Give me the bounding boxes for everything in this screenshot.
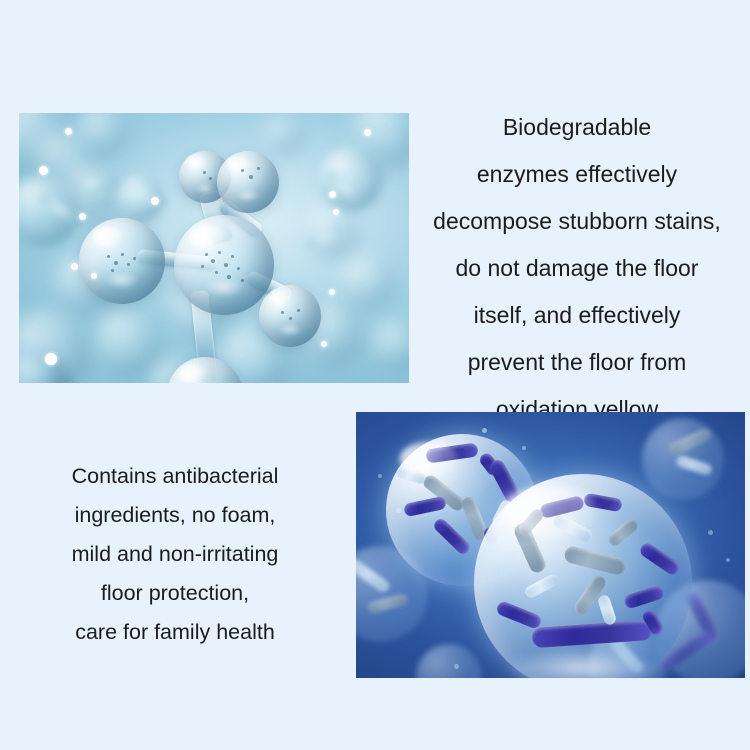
description-line: itself, and effectively [424,292,730,339]
highlight-dot [45,353,57,365]
molecule-atom [259,285,321,347]
description-line: prevent the floor from [424,339,730,386]
bacteria-bubble-photo [356,412,745,678]
highlight-dot [65,128,72,135]
highlight-dot [151,197,159,205]
description-line: floor protection, [46,574,304,613]
description-line: care for family health [46,613,304,652]
highlight-dot [71,263,78,270]
description-line: mild and non-irritating [46,535,304,574]
biodegradable-enzymes-description: Biodegradable enzymes effectively decomp… [424,104,730,433]
highlight-dot [364,129,371,136]
molecule-foreground-structure [19,113,409,383]
highlight-dot [329,191,336,198]
highlight-dot [329,289,335,295]
molecule-structure-photo [19,113,409,383]
product-feature-panel: Biodegradable enzymes effectively decomp… [0,0,750,750]
highlight-dot [39,166,48,175]
molecule-atom [217,151,279,213]
molecule-atom [79,218,165,304]
description-line: enzymes effectively [424,151,730,198]
bacteria-rods-bubble-two [356,412,745,678]
description-line: ingredients, no foam, [46,496,304,535]
description-line: decompose stubborn stains, [424,198,730,245]
description-line: do not damage the floor [424,245,730,292]
molecule-atom [167,357,243,383]
highlight-dot [79,213,86,220]
highlight-dot [321,341,327,347]
description-line: Contains antibacterial [46,457,304,496]
antibacterial-ingredients-description: Contains antibacterial ingredients, no f… [46,457,304,652]
description-line: Biodegradable [424,104,730,151]
highlight-dot [91,273,97,279]
highlight-dot [333,209,339,215]
